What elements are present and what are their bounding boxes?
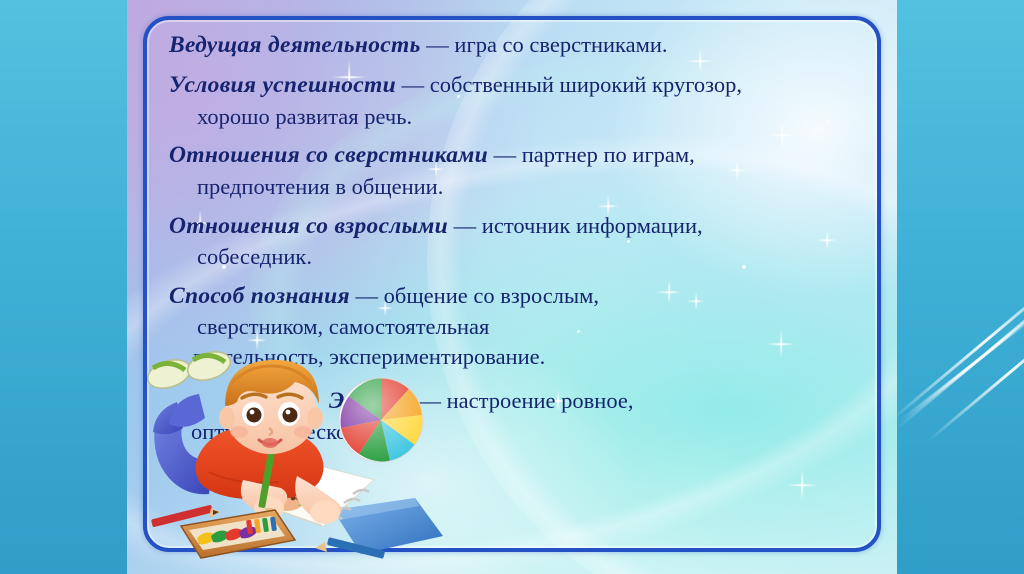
pencil-box-graphic <box>181 510 295 558</box>
entry-dash: — <box>396 72 430 97</box>
entry-leading-activity: Ведущая деятельность — игра со сверстник… <box>169 30 859 61</box>
entry-body-text: источник информации, <box>482 213 703 238</box>
entry-adult-relations: Отношения со взрослыми — источник информ… <box>169 211 859 272</box>
slide-canvas: Ведущая деятельность — игра со сверстник… <box>127 0 897 574</box>
left-color-band <box>0 0 127 574</box>
entry-lead-label: Условия успешности <box>169 72 396 98</box>
entry-body-text: собственный широкий кругозор, <box>430 72 742 97</box>
right-color-band <box>897 0 1024 574</box>
entry-body-text: партнер по играм, <box>522 142 695 167</box>
slide-stage: Ведущая деятельность — игра со сверстник… <box>0 0 1024 574</box>
entry-body-text: игра со сверстниками. <box>454 32 667 57</box>
entry-body-text: общение со взрослым, <box>384 283 599 308</box>
entry-peer-relations: Отношения со сверстниками — партнер по и… <box>169 140 859 201</box>
entry-dash: — <box>448 213 482 238</box>
entry-lead-label: Ведущая деятельность <box>169 32 421 58</box>
entry-continuation-line: сверстником, самостоятельная <box>169 312 859 342</box>
entry-lead-label: Отношения со сверстниками <box>169 142 488 168</box>
entry-dash: — <box>488 142 522 167</box>
child-drawing-illustration <box>147 340 477 574</box>
entry-success-conditions: Условия успешности — собственный широкий… <box>169 70 859 131</box>
entry-continuation-line: предпочтения в общении. <box>169 172 859 202</box>
entry-lead-label: Способ познания <box>169 283 350 309</box>
entry-continuation-line: хорошо развитая речь. <box>169 102 859 132</box>
entry-lead-label: Отношения со взрослыми <box>169 213 448 239</box>
sparkle-icon <box>787 470 817 500</box>
entry-dash: — <box>421 32 455 57</box>
entry-continuation-line: собеседник. <box>169 242 859 272</box>
beach-ball-graphic <box>339 378 423 462</box>
entry-dash: — <box>350 283 384 308</box>
